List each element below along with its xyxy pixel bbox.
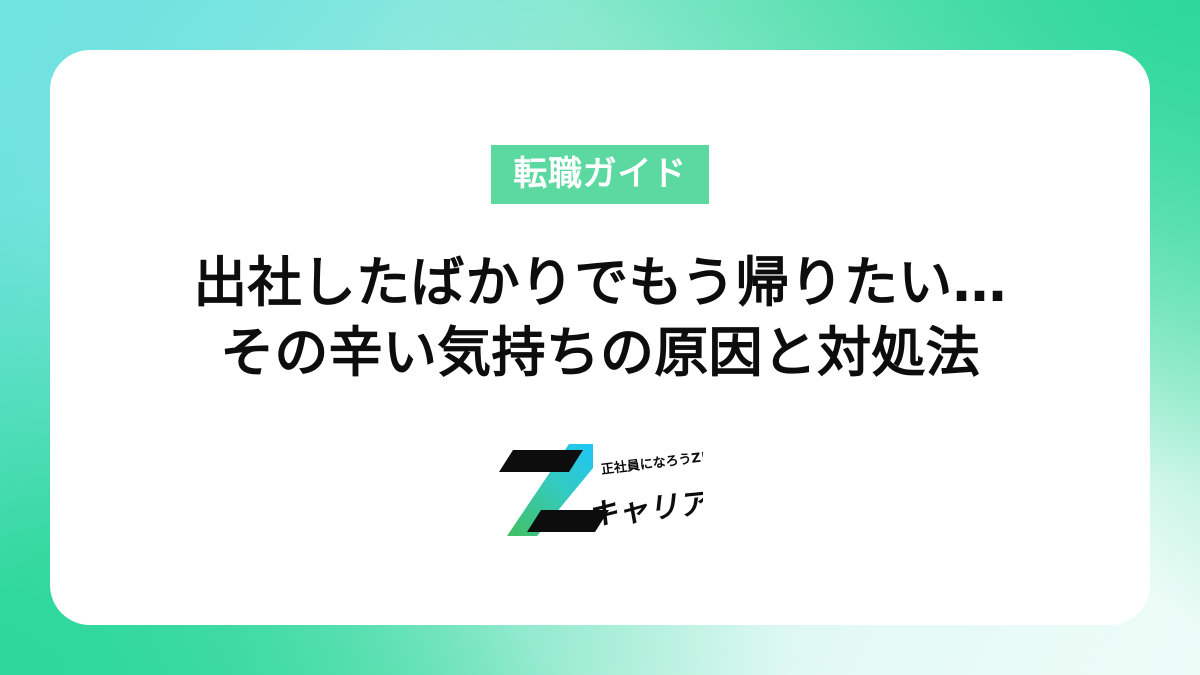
logo-tagline-text: 正社員になろうZ! (600, 449, 703, 478)
brand-logo-graphic: 正社員になろうZ! キャリア (497, 442, 703, 538)
content-card: 転職ガイド 出社したばかりでもう帰りたい… その辛い気持ちの原因と対処法 (50, 50, 1150, 625)
page-title-line-1: 出社したばかりでもう帰りたい… (193, 248, 1007, 318)
page-title: 出社したばかりでもう帰りたい… その辛い気持ちの原因と対処法 (193, 248, 1007, 388)
logo-wordmark: キャリア (587, 486, 703, 533)
brand-logo: 正社員になろうZ! キャリア (497, 442, 703, 538)
page-title-line-2: その辛い気持ちの原因と対処法 (193, 318, 1007, 388)
logo-z-top-bar (499, 450, 583, 472)
og-image-canvas: 転職ガイド 出社したばかりでもう帰りたい… その辛い気持ちの原因と対処法 (0, 0, 1200, 675)
category-badge: 転職ガイド (491, 145, 708, 204)
logo-wordmark-text: キャリア (587, 486, 703, 533)
logo-tagline: 正社員になろうZ! (600, 449, 703, 478)
